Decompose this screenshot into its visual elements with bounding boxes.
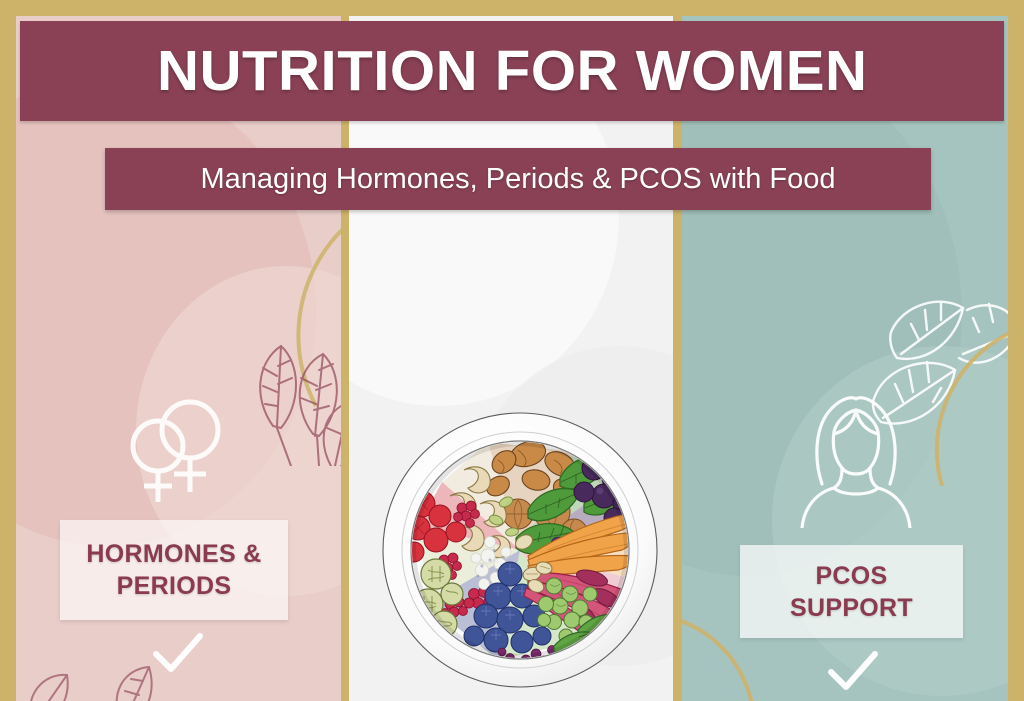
label-line-1: HORMONES & (86, 540, 261, 568)
label-box-hormones-periods: HORMONES & PERIODS (60, 520, 288, 620)
woman-silhouette-icon (790, 388, 920, 528)
food-bowl-illustration (378, 408, 662, 692)
label-box-pcos-support: PCOS SUPPORT (740, 545, 963, 638)
check-icon (150, 630, 206, 676)
label-line-2: PERIODS (117, 572, 232, 600)
leaf-line-art-icon (231, 316, 341, 466)
gold-arc-decor (922, 316, 1008, 486)
gold-arc-decor (166, 216, 341, 416)
label-hormones-periods: HORMONES & PERIODS (86, 538, 261, 602)
label-pcos-support: PCOS SUPPORT (790, 560, 913, 624)
subtitle-banner: Managing Hormones, Periods & PCOS with F… (105, 148, 931, 210)
label-line-2: SUPPORT (790, 594, 913, 622)
double-venus-icon (118, 390, 238, 510)
page-subtitle: Managing Hormones, Periods & PCOS with F… (200, 163, 835, 196)
header-banner: NUTRITION FOR WOMEN (20, 21, 1004, 121)
label-line-1: PCOS (815, 562, 887, 590)
check-icon (825, 648, 881, 694)
page-title: NUTRITION FOR WOMEN (157, 43, 868, 100)
poster-canvas: NUTRITION FOR WOMEN Managing Hormones, P… (0, 0, 1024, 701)
